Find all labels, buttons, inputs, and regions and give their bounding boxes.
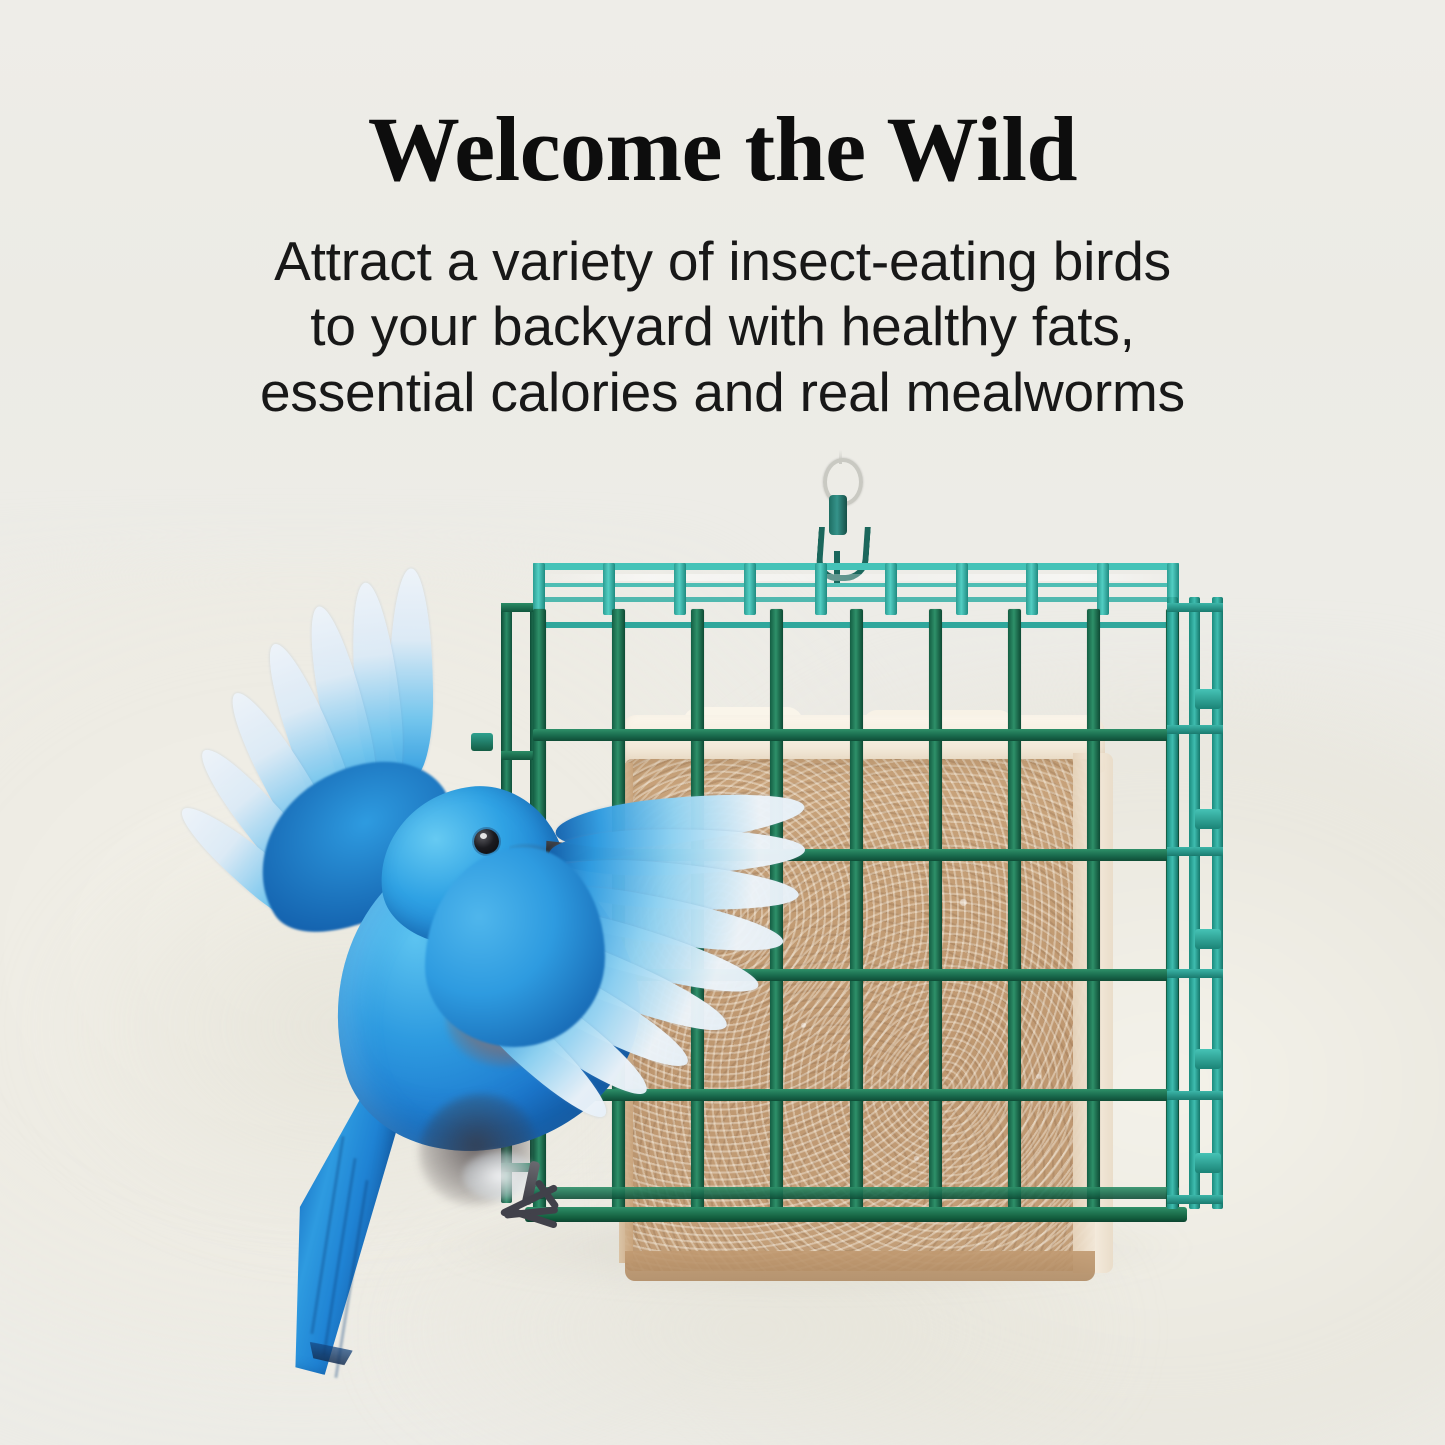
cage-crown-bar: [1097, 563, 1109, 615]
cage-side-rail-right: [1167, 847, 1223, 856]
cage-side-rail-right: [1167, 1091, 1223, 1100]
cage-side-rail-right: [1167, 725, 1223, 734]
cage-side-rail-right: [1167, 969, 1223, 978]
cage-side-rail-right: [1167, 1195, 1223, 1204]
subtitle-line-3: essential calories and real mealworms: [163, 360, 1283, 425]
cage-hinge-tab-right: [1195, 689, 1221, 709]
cage-side-bar-right: [1167, 597, 1178, 1209]
cage-crown-bar: [956, 563, 968, 615]
cage-vertical-bar: [1008, 609, 1021, 1221]
cage-side-panel-right: [1167, 597, 1223, 1209]
cage-hinge-tab-right: [1195, 929, 1221, 949]
page-subtitle: Attract a variety of insect-eating birds…: [163, 229, 1283, 425]
subtitle-line-2: to your backyard with healthy fats,: [163, 294, 1283, 359]
cage-crown-bar: [1026, 563, 1038, 615]
bird-wing-shoulder: [425, 847, 605, 1047]
cage-crown-bar: [885, 563, 897, 615]
banner-canvas: Welcome the Wild Attract a variety of in…: [0, 0, 1445, 1445]
eastern-bluebird: [230, 575, 830, 1355]
page-title: Welcome the Wild: [0, 103, 1445, 195]
cage-vertical-bar: [1087, 609, 1100, 1221]
cage-hinge-tab-right: [1195, 1153, 1221, 1173]
subtitle-line-1: Attract a variety of insect-eating birds: [163, 229, 1283, 294]
cage-hinge-tab-right: [1195, 1049, 1221, 1069]
bird-wing-lower-right: [445, 807, 865, 1137]
cage-side-rail-right: [1167, 603, 1223, 612]
headline-block: Welcome the Wild Attract a variety of in…: [0, 103, 1445, 425]
cage-hinge-tab-right: [1195, 809, 1221, 829]
cage-vertical-bar: [929, 609, 942, 1221]
